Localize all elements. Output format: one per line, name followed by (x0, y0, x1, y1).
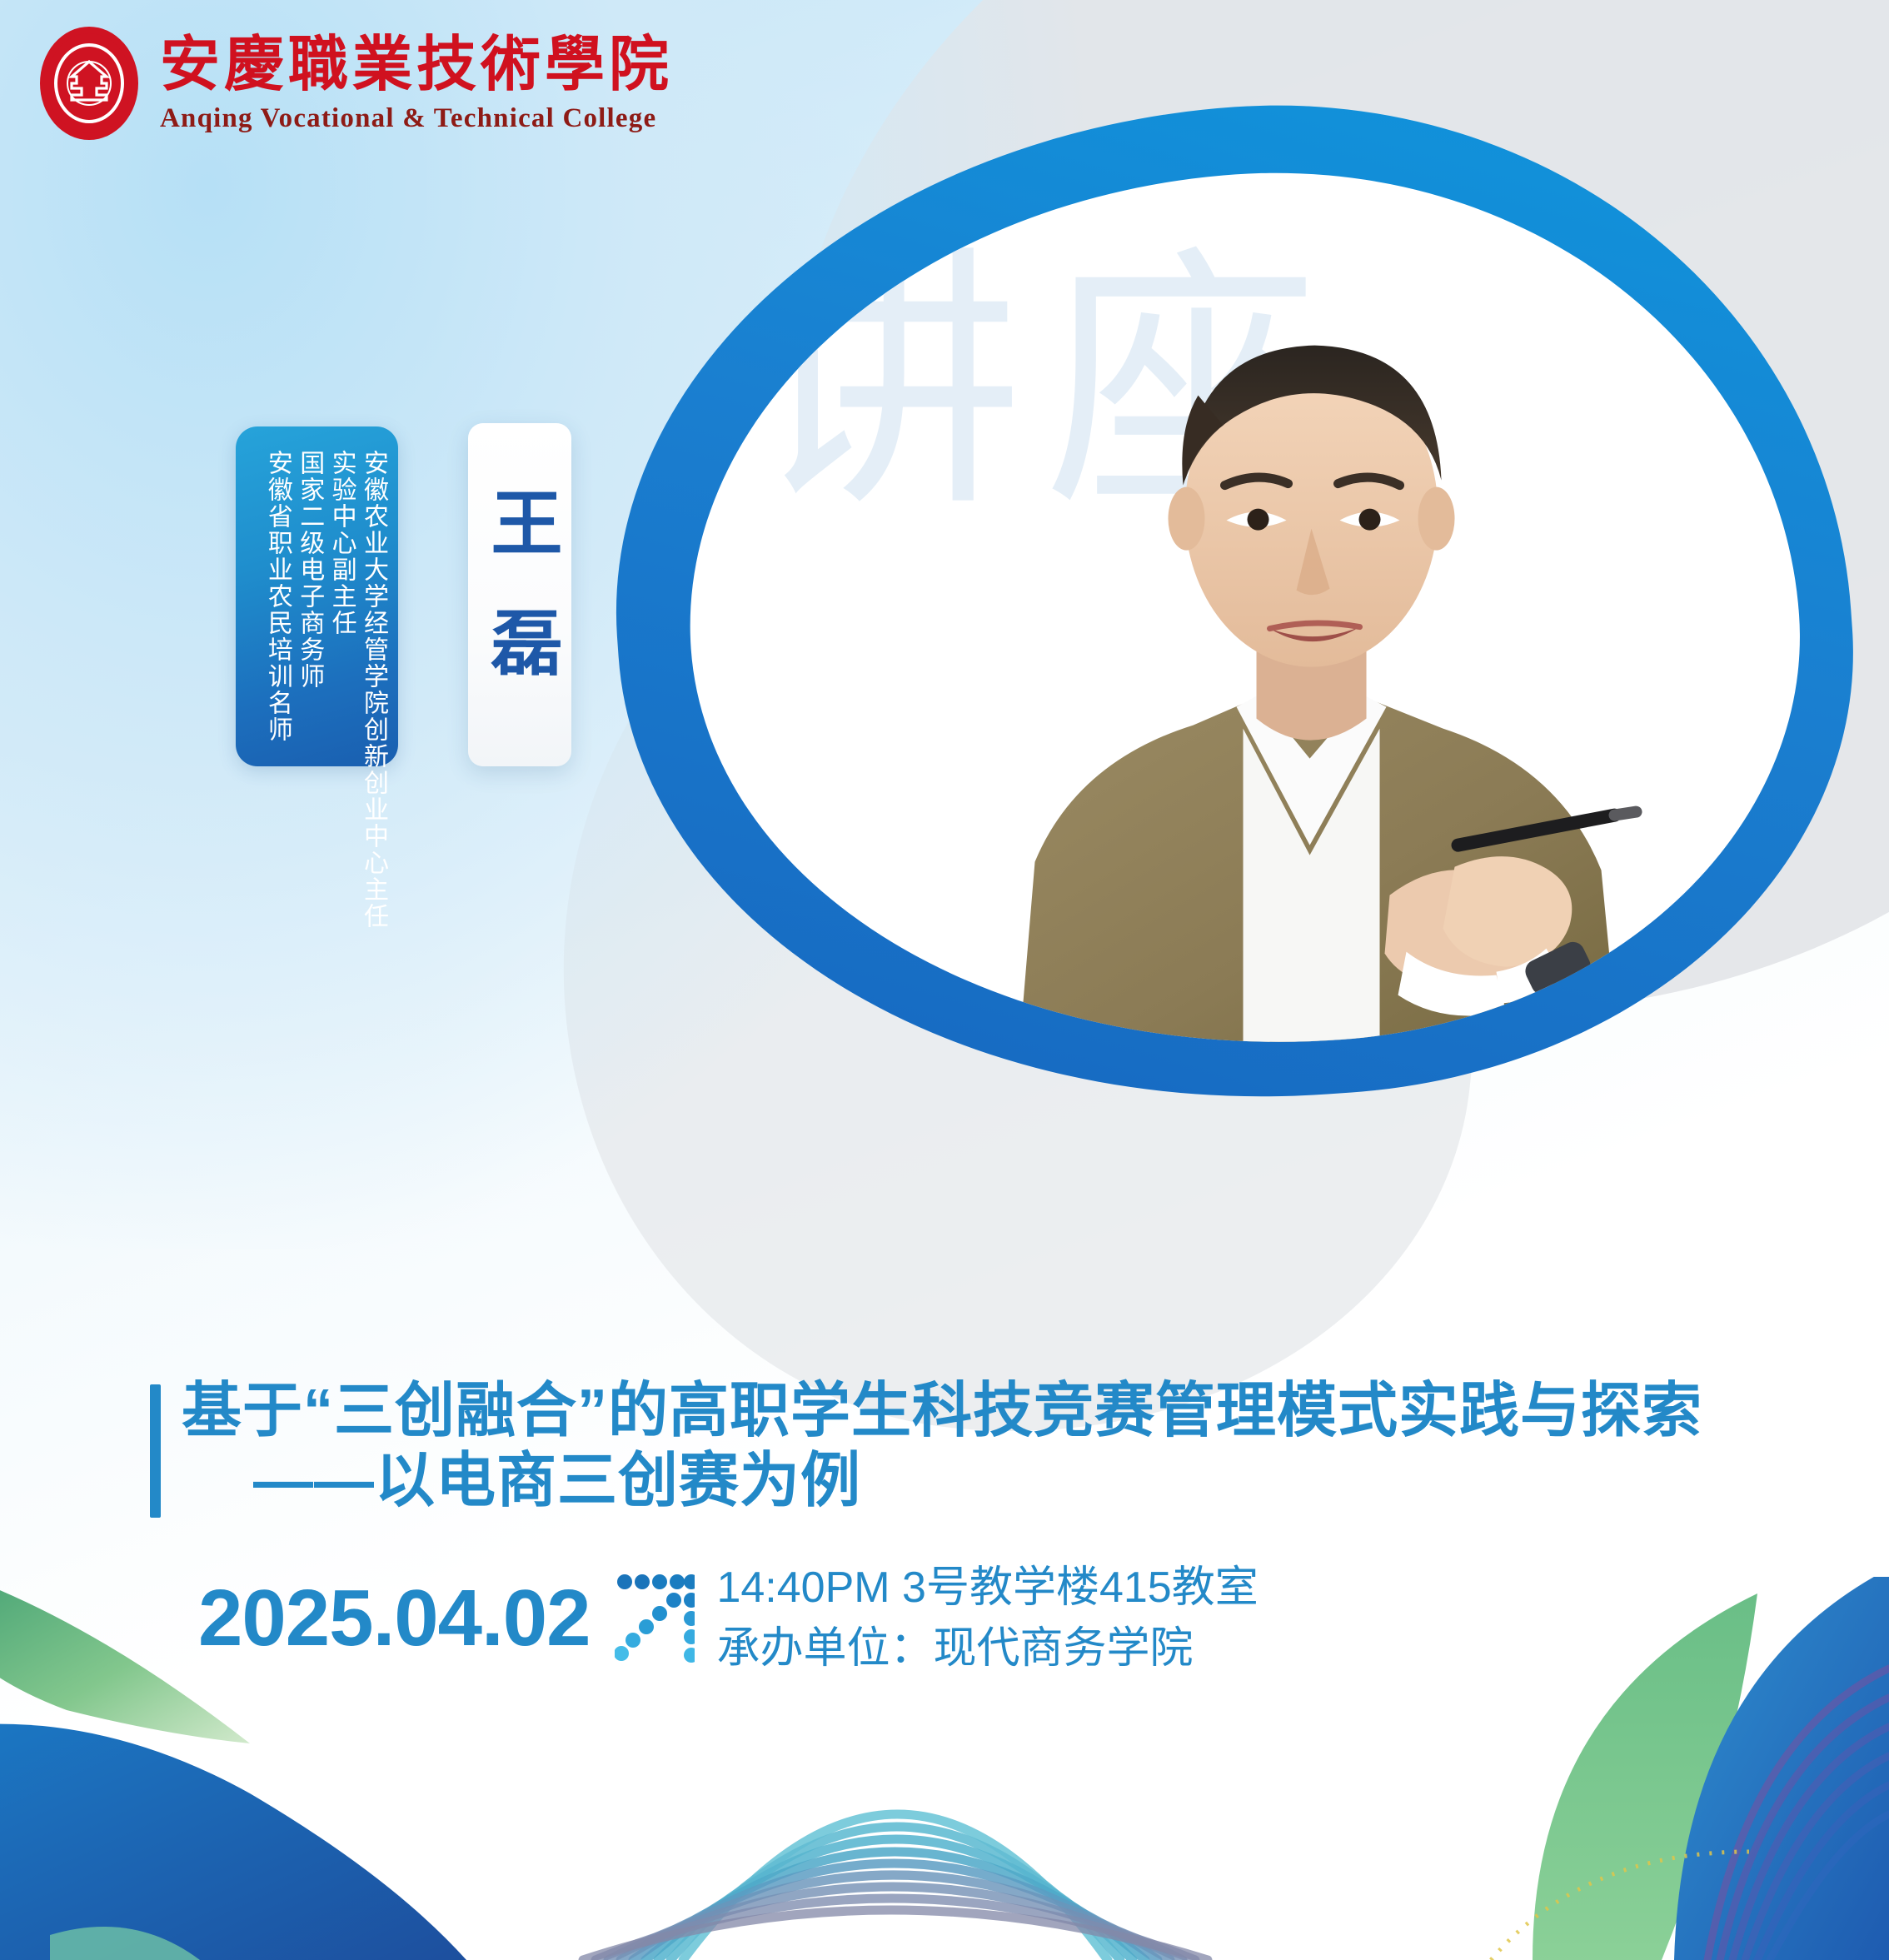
title-accent-bar (150, 1384, 161, 1518)
poster-canvas: 安慶職業技術學院 Anqing Vocational & Technical C… (0, 0, 1889, 1960)
speaker-hero: 讲座 (583, 100, 1889, 1116)
lecture-title-line-1: 基于“三创融合”的高职学生科技竞赛管理模式实践与探索 (182, 1376, 1782, 1446)
poster-header: 安慶職業技術學院 Anqing Vocational & Technical C… (40, 27, 673, 140)
lecture-time-venue: 14:40PM 3号教学楼415教室 (716, 1564, 1258, 1612)
credential-column-3: 国家二级电子商务师 (296, 450, 322, 753)
credential-column-4: 安徽省职业农民培训名师 (263, 450, 290, 753)
speaker-name: 王磊 (484, 464, 556, 726)
seal-emblem-icon (65, 58, 113, 108)
credential-column-2: 实验中心副主任 (327, 450, 354, 753)
university-seal-icon (40, 27, 138, 140)
speaker-name-card: 王磊 (468, 423, 571, 766)
credential-column-1: 安徽农业大学经管学院创新创业中心主任 (360, 450, 386, 753)
university-name-en: Anqing Vocational & Technical College (160, 103, 673, 134)
speaker-credentials-card: 安徽农业大学经管学院创新创业中心主任 实验中心副主任 国家二级电子商务师 安徽省… (236, 426, 398, 766)
speaker-portrait (944, 262, 1677, 1062)
university-name-cn: 安慶職業技術學院 (160, 32, 673, 96)
dot-pattern-icon (615, 1572, 695, 1665)
lecture-title-block: 基于“三创融合”的高职学生科技竞赛管理模式实践与探索 ——以电商三创赛为例 (150, 1376, 1782, 1516)
schedule-bar: 2025.04.02 14:40PM 3号教学楼415教室 承办单位：现代商务学… (198, 1564, 1259, 1673)
lecture-title-line-2: ——以电商三创赛为例 (253, 1446, 1782, 1516)
lecture-organizer: 承办单位：现代商务学院 (716, 1625, 1258, 1673)
lecture-date: 2025.04.02 (198, 1578, 590, 1658)
